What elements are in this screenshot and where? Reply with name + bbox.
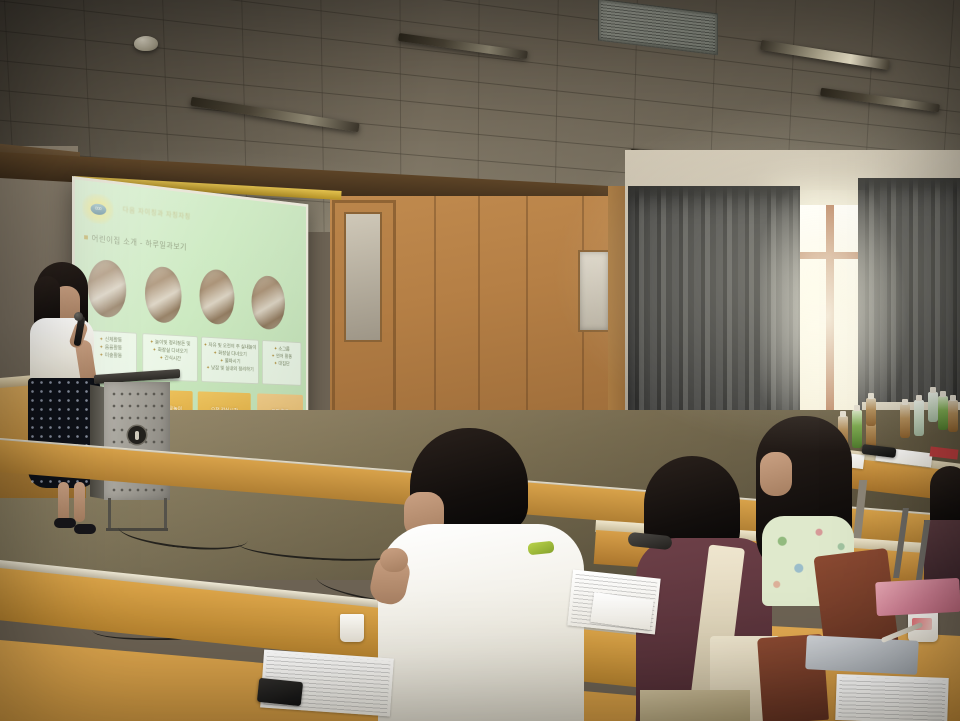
bottle-5[interactable] [914, 400, 924, 436]
microphone-head-icon [74, 312, 83, 321]
institution-crest-icon [128, 426, 146, 444]
wall-notice-panel [578, 250, 610, 332]
paper-cup-1[interactable] [340, 614, 364, 642]
photo-oval-4 [252, 274, 285, 330]
photo-oval-3 [199, 268, 234, 325]
bottle-9[interactable] [928, 392, 938, 422]
attendee-right-face [760, 452, 792, 496]
slide-logo-mark: ooo [90, 202, 106, 215]
presenter-shoe-right [74, 524, 96, 534]
smoke-detector-icon [134, 36, 158, 51]
slide-text-box-3: ✦ 자유 및 오전의 주 실내놀이✦ 화장실 다녀오기✦ 물마시기✦ 낮잠 및 … [201, 336, 259, 384]
smartphone[interactable] [257, 678, 303, 706]
slide-subtitle-bullet-icon [84, 235, 88, 239]
photo-oval-2 [145, 265, 182, 324]
slide-text-line: ✦ 대집단 [264, 360, 299, 369]
lecture-hall-photo: ooo 다음 자이칭과 자칭자칭 어린이집 소개 - 하루일과보기 ✦ 신체활동… [0, 0, 960, 721]
presenter-leg-right [74, 482, 85, 522]
slide-logo: ooo [82, 192, 113, 225]
slide-text-line: ✦ 낮잠 및 실내외 정리하기 [204, 364, 257, 374]
door-glass-panel [344, 212, 382, 342]
slide-subtitle-text: 어린이집 소개 - 하루일과보기 [92, 234, 187, 252]
photo-oval-1 [88, 258, 126, 318]
podium-leg-left [108, 498, 111, 530]
slide-photo-row [88, 258, 297, 333]
pink-patterned-pouch[interactable] [875, 578, 960, 616]
presenter-leg-left [58, 482, 69, 522]
bottle-8[interactable] [948, 400, 958, 432]
window-frame-horizontal [793, 252, 865, 259]
attendee-front-shirt [378, 524, 584, 721]
handout-paper-3 [835, 674, 949, 721]
bottle-4[interactable] [900, 404, 910, 438]
presenter-shoe-left [54, 518, 76, 528]
tablet-device[interactable] [805, 635, 919, 675]
slide-text-line: ✦ 간식시간 [145, 354, 195, 364]
slide-subtitle: 어린이집 소개 - 하루일과보기 [84, 232, 187, 253]
slide-text-box-4: ✦ 소그룹✦ 언어 활동✦ 대집단 [262, 340, 301, 386]
attendee-front-hand [380, 548, 408, 572]
bottle-6[interactable] [866, 398, 876, 426]
attendee-middle-pants [640, 690, 750, 721]
slide-text-line: ✦ 미술활동 [87, 351, 134, 361]
bottle-7[interactable] [938, 396, 948, 430]
slide-title: 다음 자이칭과 자칭자칭 [123, 205, 191, 222]
bottle-2[interactable] [852, 410, 862, 448]
